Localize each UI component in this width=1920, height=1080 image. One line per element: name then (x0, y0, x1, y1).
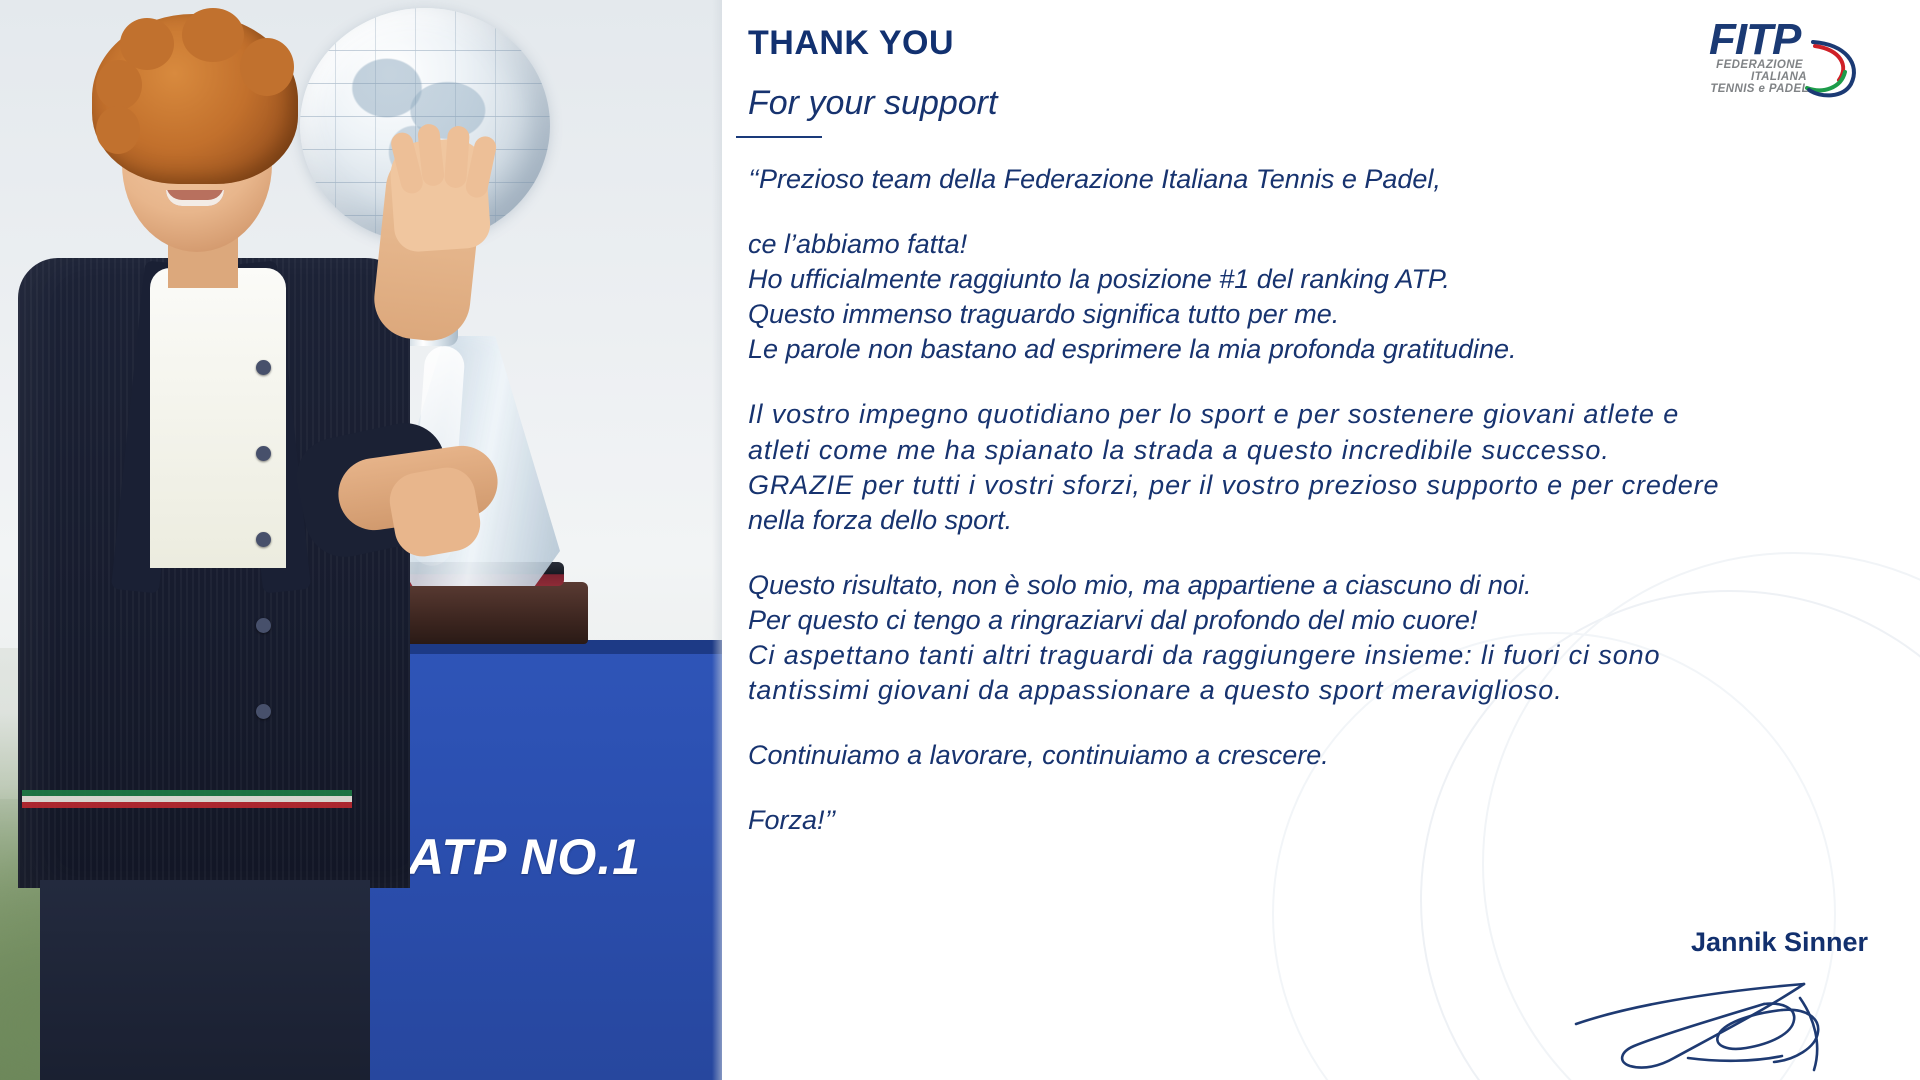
fitp-wordmark-icon: FITP (1709, 15, 1802, 64)
trophy-base (392, 582, 588, 644)
letter-line: ce l’abbiamo fatta! (748, 227, 1854, 262)
letter-line: tantissimi giovani da appassionare a que… (748, 673, 1854, 708)
cardigan-button (256, 618, 271, 633)
fitp-ball-swoosh-icon (1807, 42, 1854, 95)
hair-curl (240, 38, 294, 96)
athlete-photo: ATP NO.1 (0, 0, 722, 1080)
handwritten-signature-icon (1568, 962, 1868, 1080)
cardigan-button (256, 446, 271, 461)
fitp-subline-1: FEDERAZIONE (1716, 59, 1803, 71)
letter-line: Per questo ci tengo a ringraziarvi dal p… (748, 603, 1854, 638)
cardigan-button (256, 704, 271, 719)
letter-paragraph: ‘‘Prezioso team della Federazione Italia… (748, 162, 1854, 197)
letter-body: ‘‘Prezioso team della Federazione Italia… (736, 162, 1854, 838)
letter-line: Questo immenso traguardo significa tutto… (748, 297, 1854, 332)
letter-paragraph: ce l’abbiamo fatta! Ho ufficialmente rag… (748, 227, 1854, 367)
letter-line: Ho ufficialmente raggiunto la posizione … (748, 262, 1854, 297)
header-divider (736, 136, 822, 138)
fitp-logo: FITP FEDERAZIONE ITALIANA TENNIS e PADEL (1689, 10, 1874, 98)
fitp-logo-svg: FITP FEDERAZIONE ITALIANA TENNIS e PADEL (1689, 10, 1874, 98)
letter-paragraph: Questo risultato, non è solo mio, ma app… (748, 568, 1854, 708)
letter-line: atleti come me ha spianato la strada a q… (748, 433, 1854, 468)
photo-right-edge (712, 0, 722, 1080)
letter-line: Continuiamo a lavorare, continuiamo a cr… (748, 738, 1854, 773)
letter-line: GRAZIE per tutti i vostri sforzi, per il… (748, 468, 1854, 503)
hair-curl (120, 18, 174, 70)
thank-you-letter-page: ATP NO.1 (0, 0, 1920, 1080)
cardigan-hem-stripe (22, 790, 352, 808)
letter-line: ‘‘Prezioso team della Federazione Italia… (748, 162, 1854, 197)
hair-curl (182, 8, 244, 62)
letter-line: Questo risultato, non è solo mio, ma app… (748, 568, 1854, 603)
pedestal-atp-no1-text: ATP NO.1 (408, 828, 708, 884)
athlete-trousers (40, 880, 370, 1080)
letter-line: Forza!’’ (748, 803, 1854, 838)
cardigan-button (256, 360, 271, 375)
letter-paragraph: Il vostro impegno quotidiano per lo spor… (748, 397, 1854, 537)
letter-panel: FITP FEDERAZIONE ITALIANA TENNIS e PADEL… (722, 0, 1920, 1080)
mouth-smile (166, 190, 224, 206)
letter-line: nella forza dello sport. (748, 503, 1854, 538)
fitp-subline-3: TENNIS e PADEL (1710, 83, 1809, 95)
hair-curl (96, 106, 140, 154)
letter-line: Il vostro impegno quotidiano per lo spor… (748, 397, 1854, 432)
athlete-tshirt (150, 268, 286, 568)
letter-line: Le parole non bastano ad esprimere la mi… (748, 332, 1854, 367)
fitp-subline-2: ITALIANA (1751, 71, 1807, 83)
svg-text:FITP: FITP (1709, 15, 1802, 64)
letter-paragraph: Forza!’’ (748, 803, 1854, 838)
letter-paragraph: Continuiamo a lavorare, continuiamo a cr… (748, 738, 1854, 773)
signature-name: Jannik Sinner (1428, 927, 1868, 958)
signature-block: Jannik Sinner (1428, 927, 1868, 1080)
cardigan-button (256, 532, 271, 547)
letter-line: Ci aspettano tanti altri traguardi da ra… (748, 638, 1854, 673)
